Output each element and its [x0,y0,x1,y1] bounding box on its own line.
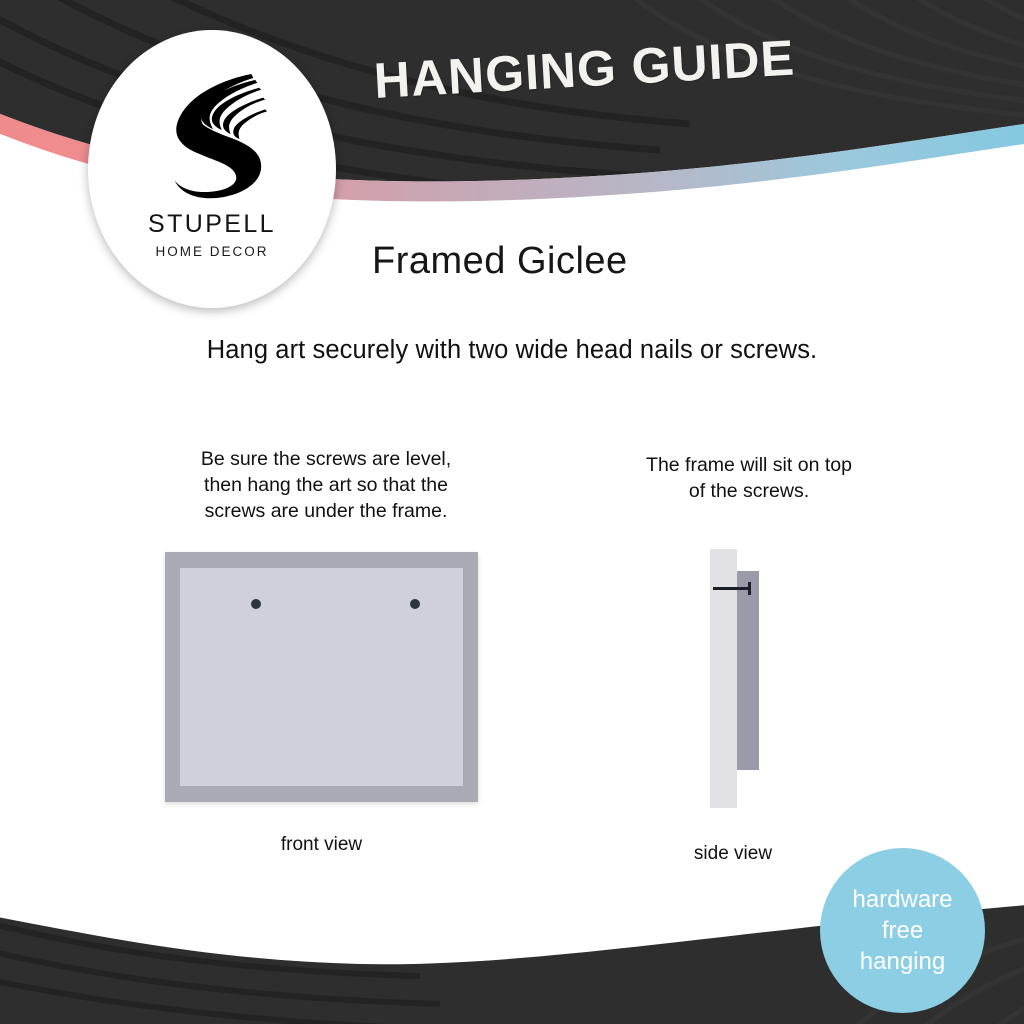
front-view-frame-mat [180,568,463,786]
nail-head-icon [748,582,751,595]
hanging-guide-page: STUPELL HOME DECOR HANGING GUIDE Framed … [0,0,1024,1024]
side-view-caption: The frame will sit on top of the screws. [600,452,898,504]
screw-dot-left-icon [251,599,261,609]
front-view-frame-diagram [165,552,478,802]
badge-line-1: hardware [852,884,952,915]
hardware-free-hanging-badge: hardware free hanging [820,848,985,1013]
screw-dot-right-icon [410,599,420,609]
side-view-label: side view [640,843,826,865]
brand-sub-wordmark: HOME DECOR [155,244,268,259]
badge-line-2: free [882,915,923,946]
front-view-label: front view [165,834,478,856]
brand-logo-badge: STUPELL HOME DECOR [88,30,336,308]
stupell-swoosh-logo-icon [153,68,271,200]
front-view-caption-line-1: Be sure the screws are level, [170,446,482,472]
side-view-frame-profile [737,571,759,770]
nail-shaft-icon [713,587,751,590]
lead-instruction-text: Hang art securely with two wide head nai… [0,336,1024,365]
front-view-caption-line-3: screws are under the frame. [170,498,482,524]
brand-wordmark: STUPELL [148,210,276,239]
front-view-caption: Be sure the screws are level, then hang … [170,446,482,524]
product-type-heading: Framed Giclee [372,240,628,283]
side-view-caption-line-2: of the screws. [600,478,898,504]
front-view-caption-line-2: then hang the art so that the [170,472,482,498]
badge-line-3: hanging [860,946,945,977]
side-view-caption-line-1: The frame will sit on top [600,452,898,478]
